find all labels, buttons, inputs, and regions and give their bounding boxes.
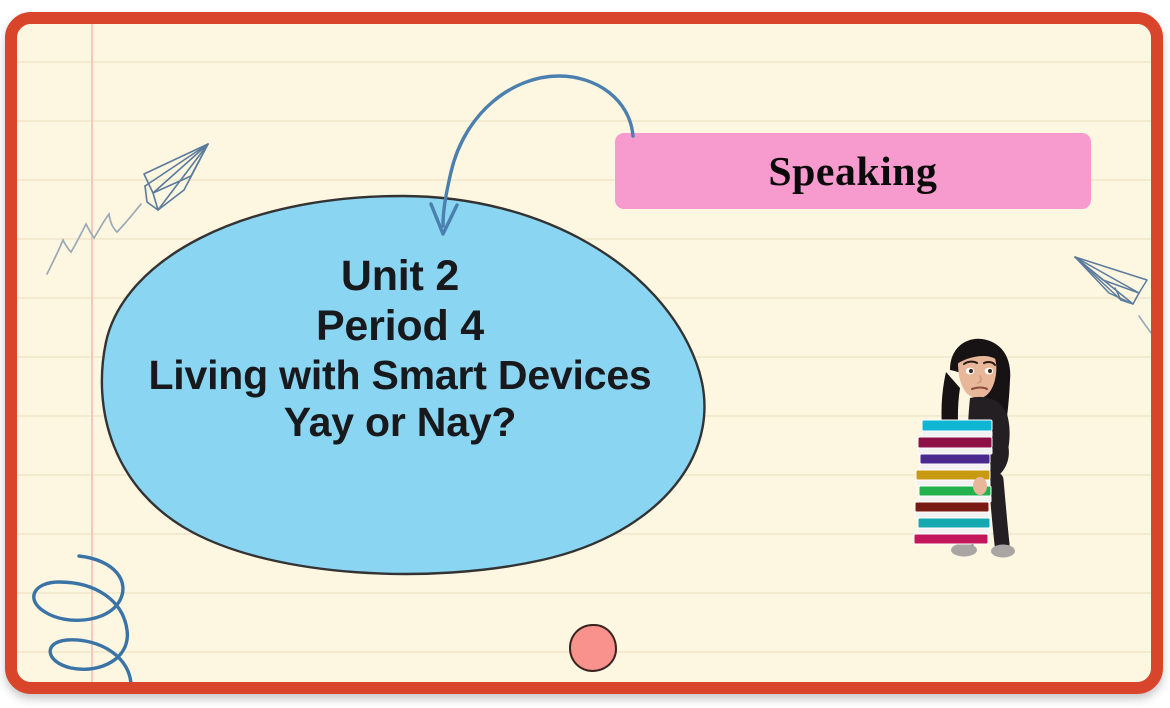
title-blob-shape[interactable] <box>90 194 710 569</box>
speaking-banner-label: Speaking <box>768 147 937 195</box>
slide-stage: Unit 2 Period 4 Living with Smart Device… <box>0 0 1170 708</box>
pink-dot-decoration <box>569 624 617 672</box>
slide-frame: Unit 2 Period 4 Living with Smart Device… <box>5 12 1163 694</box>
girl-carrying-books-illustration <box>910 336 1030 566</box>
speaking-banner[interactable]: Speaking <box>615 133 1091 209</box>
